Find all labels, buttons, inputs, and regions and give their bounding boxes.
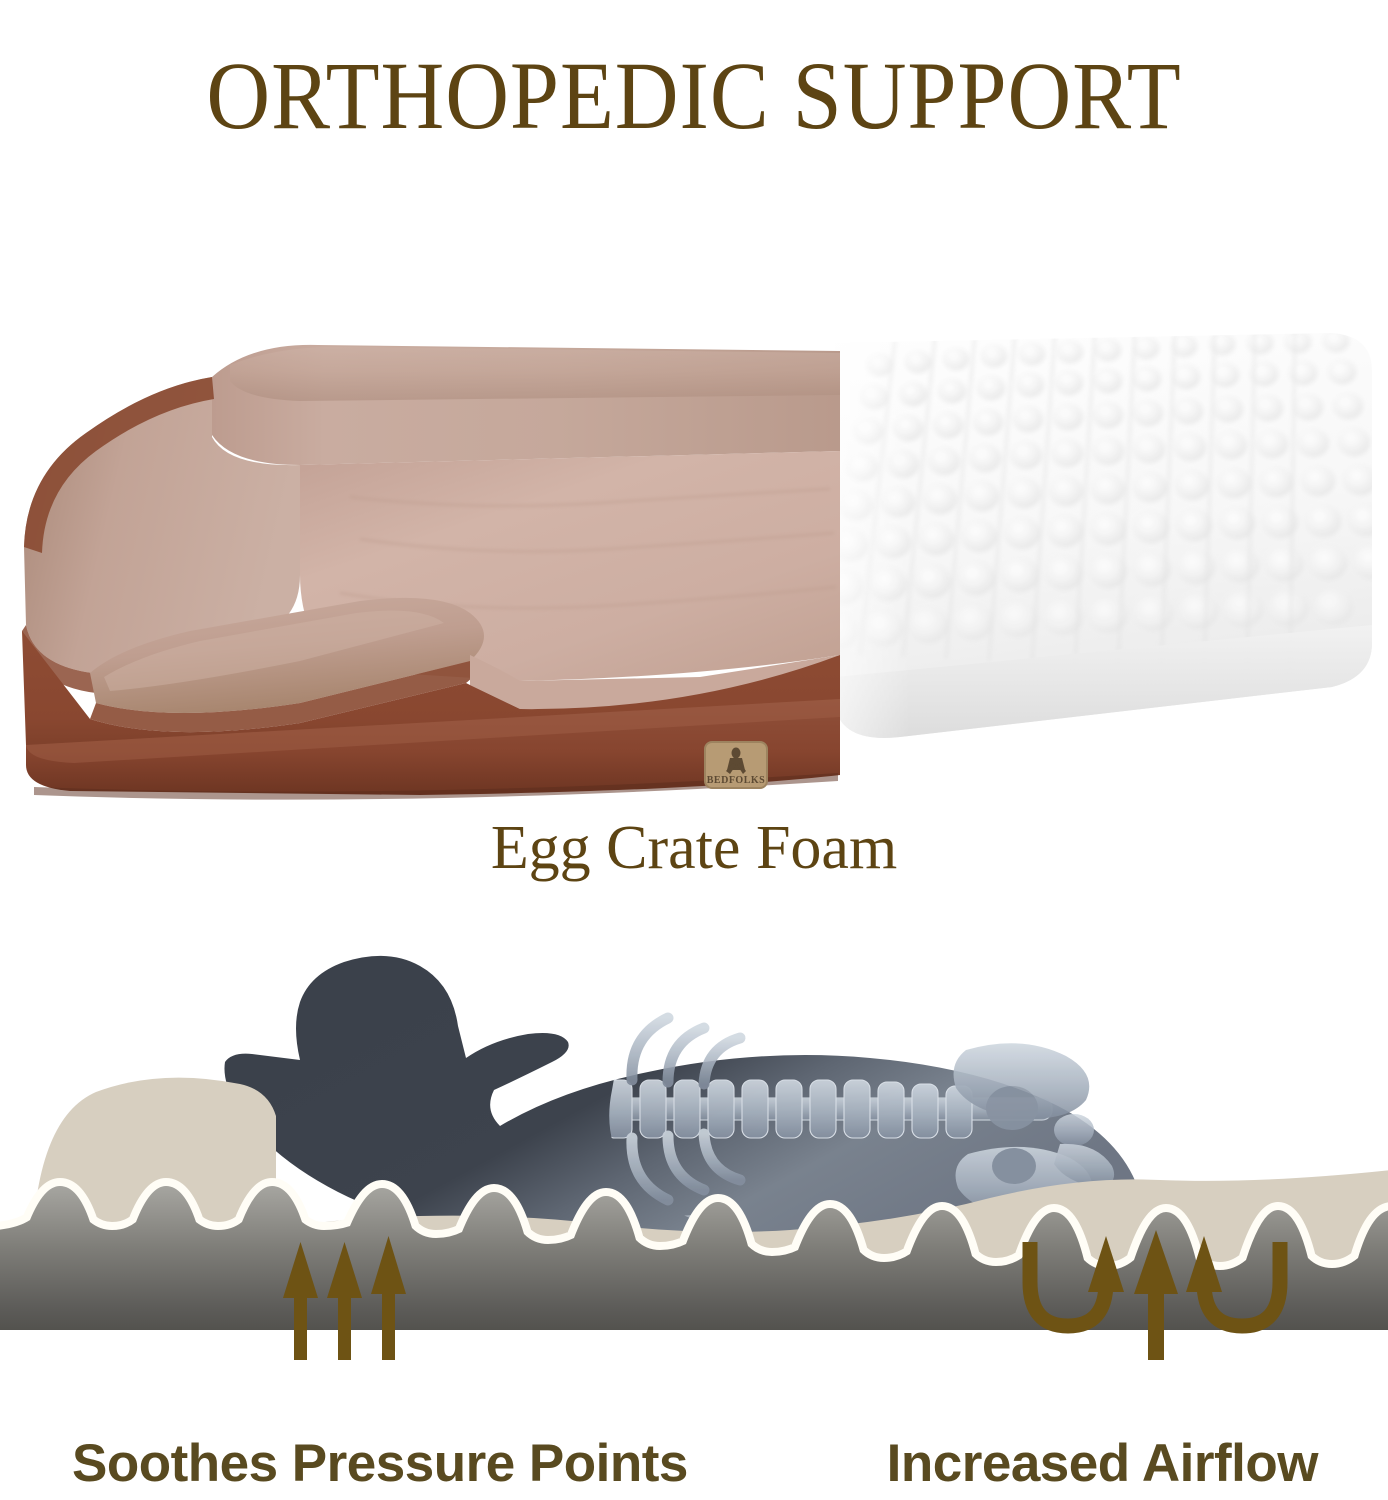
egg-crate-foam-caption: Egg Crate Foam <box>0 816 1388 881</box>
caption-soothes-pressure-points: Soothes Pressure Points <box>72 1433 688 1494</box>
product-photo-dog-bed: BEDFOLKS <box>0 325 1388 800</box>
brand-tag: BEDFOLKS <box>705 742 767 788</box>
egg-crate-foam-slab <box>818 325 1388 745</box>
caption-increased-airflow: Increased Airflow <box>887 1433 1318 1494</box>
page-title: ORTHOPEDIC SUPPORT <box>56 48 1333 144</box>
cross-section-diagram <box>0 930 1388 1360</box>
brand-tag-label: BEDFOLKS <box>707 775 765 786</box>
bolster-dog-bed: BEDFOLKS <box>22 345 840 800</box>
pressure-relief-arrows <box>283 1236 406 1360</box>
